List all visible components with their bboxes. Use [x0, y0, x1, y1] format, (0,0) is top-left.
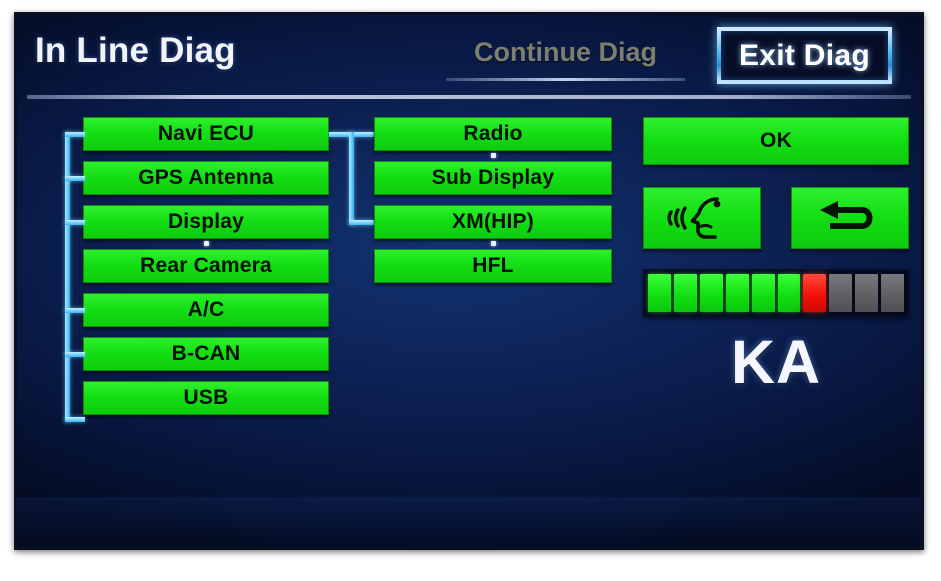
- bar-segment: [855, 274, 878, 312]
- bar-segment: [803, 274, 826, 312]
- bar-segment: [778, 274, 801, 312]
- module-label: Rear Camera: [140, 254, 272, 278]
- left-bracket-tick-display: [65, 220, 85, 225]
- bar-segment: [700, 274, 723, 312]
- module-button-usb[interactable]: USB: [83, 381, 329, 415]
- bar-segment: [674, 274, 697, 312]
- back-arrow-icon: [812, 196, 888, 240]
- module-label: XM(HIP): [452, 210, 534, 234]
- module-label: Sub Display: [432, 166, 554, 190]
- left-bracket-tick-usb: [65, 417, 85, 422]
- ok-button-label: OK: [760, 129, 792, 153]
- module-label: GPS Antenna: [138, 166, 274, 190]
- diagnostic-screen: In Line Diag Continue Diag Exit Diag Nav…: [17, 15, 921, 547]
- continue-diag-underline: [446, 78, 685, 81]
- bar-segment: [752, 274, 775, 312]
- left-bracket-tick-navi-ecu: [65, 132, 85, 137]
- diagnostic-body: Navi ECU GPS Antenna Display Rear Camera…: [17, 99, 921, 547]
- module-label: B-CAN: [172, 342, 241, 366]
- diagnostic-screen-frame: In Line Diag Continue Diag Exit Diag Nav…: [14, 12, 924, 550]
- module-label: Display: [168, 210, 244, 234]
- module-button-display[interactable]: Display: [83, 205, 329, 239]
- module-button-navi-ecu[interactable]: Navi ECU: [83, 117, 329, 151]
- module-label: Navi ECU: [158, 122, 254, 146]
- exit-diag-button[interactable]: Exit Diag: [717, 27, 892, 84]
- module-button-rear-camera[interactable]: Rear Camera: [83, 249, 329, 283]
- left-bracket-tick-b-can: [65, 352, 85, 357]
- left-bracket-tick-ac: [65, 308, 85, 313]
- exit-diag-label: Exit Diag: [739, 39, 870, 73]
- bar-segment: [829, 274, 852, 312]
- continue-diag-label: Continue Diag: [444, 37, 687, 68]
- separator-dot: [491, 153, 496, 158]
- bar-segment: [881, 274, 904, 312]
- separator-dot: [491, 241, 496, 246]
- module-label: HFL: [472, 254, 513, 278]
- diagnostic-code: KA: [643, 327, 909, 397]
- left-bracket-tick-gps-antenna: [65, 176, 85, 181]
- bar-segment: [648, 274, 671, 312]
- module-button-hfl[interactable]: HFL: [374, 249, 612, 283]
- voice-recognition-button[interactable]: [643, 187, 761, 249]
- module-label: Radio: [463, 122, 522, 146]
- middle-bracket-spine: [349, 132, 354, 225]
- middle-bracket-tick-xm-hip: [349, 220, 374, 225]
- module-label: A/C: [188, 298, 225, 322]
- signal-bar-meter: [643, 269, 909, 317]
- module-button-gps-antenna[interactable]: GPS Antenna: [83, 161, 329, 195]
- continue-diag-button[interactable]: Continue Diag: [444, 37, 687, 81]
- module-button-ac[interactable]: A/C: [83, 293, 329, 327]
- ok-button[interactable]: OK: [643, 117, 909, 165]
- page-title: In Line Diag: [35, 31, 236, 71]
- bar-segment: [726, 274, 749, 312]
- separator-dot: [204, 241, 209, 246]
- module-label: USB: [184, 386, 229, 410]
- voice-recognition-icon: [665, 194, 739, 242]
- module-button-b-can[interactable]: B-CAN: [83, 337, 329, 371]
- module-button-xm-hip[interactable]: XM(HIP): [374, 205, 612, 239]
- module-button-radio[interactable]: Radio: [374, 117, 612, 151]
- header-bar: In Line Diag Continue Diag Exit Diag: [17, 15, 921, 99]
- back-button[interactable]: [791, 187, 909, 249]
- module-button-sub-display[interactable]: Sub Display: [374, 161, 612, 195]
